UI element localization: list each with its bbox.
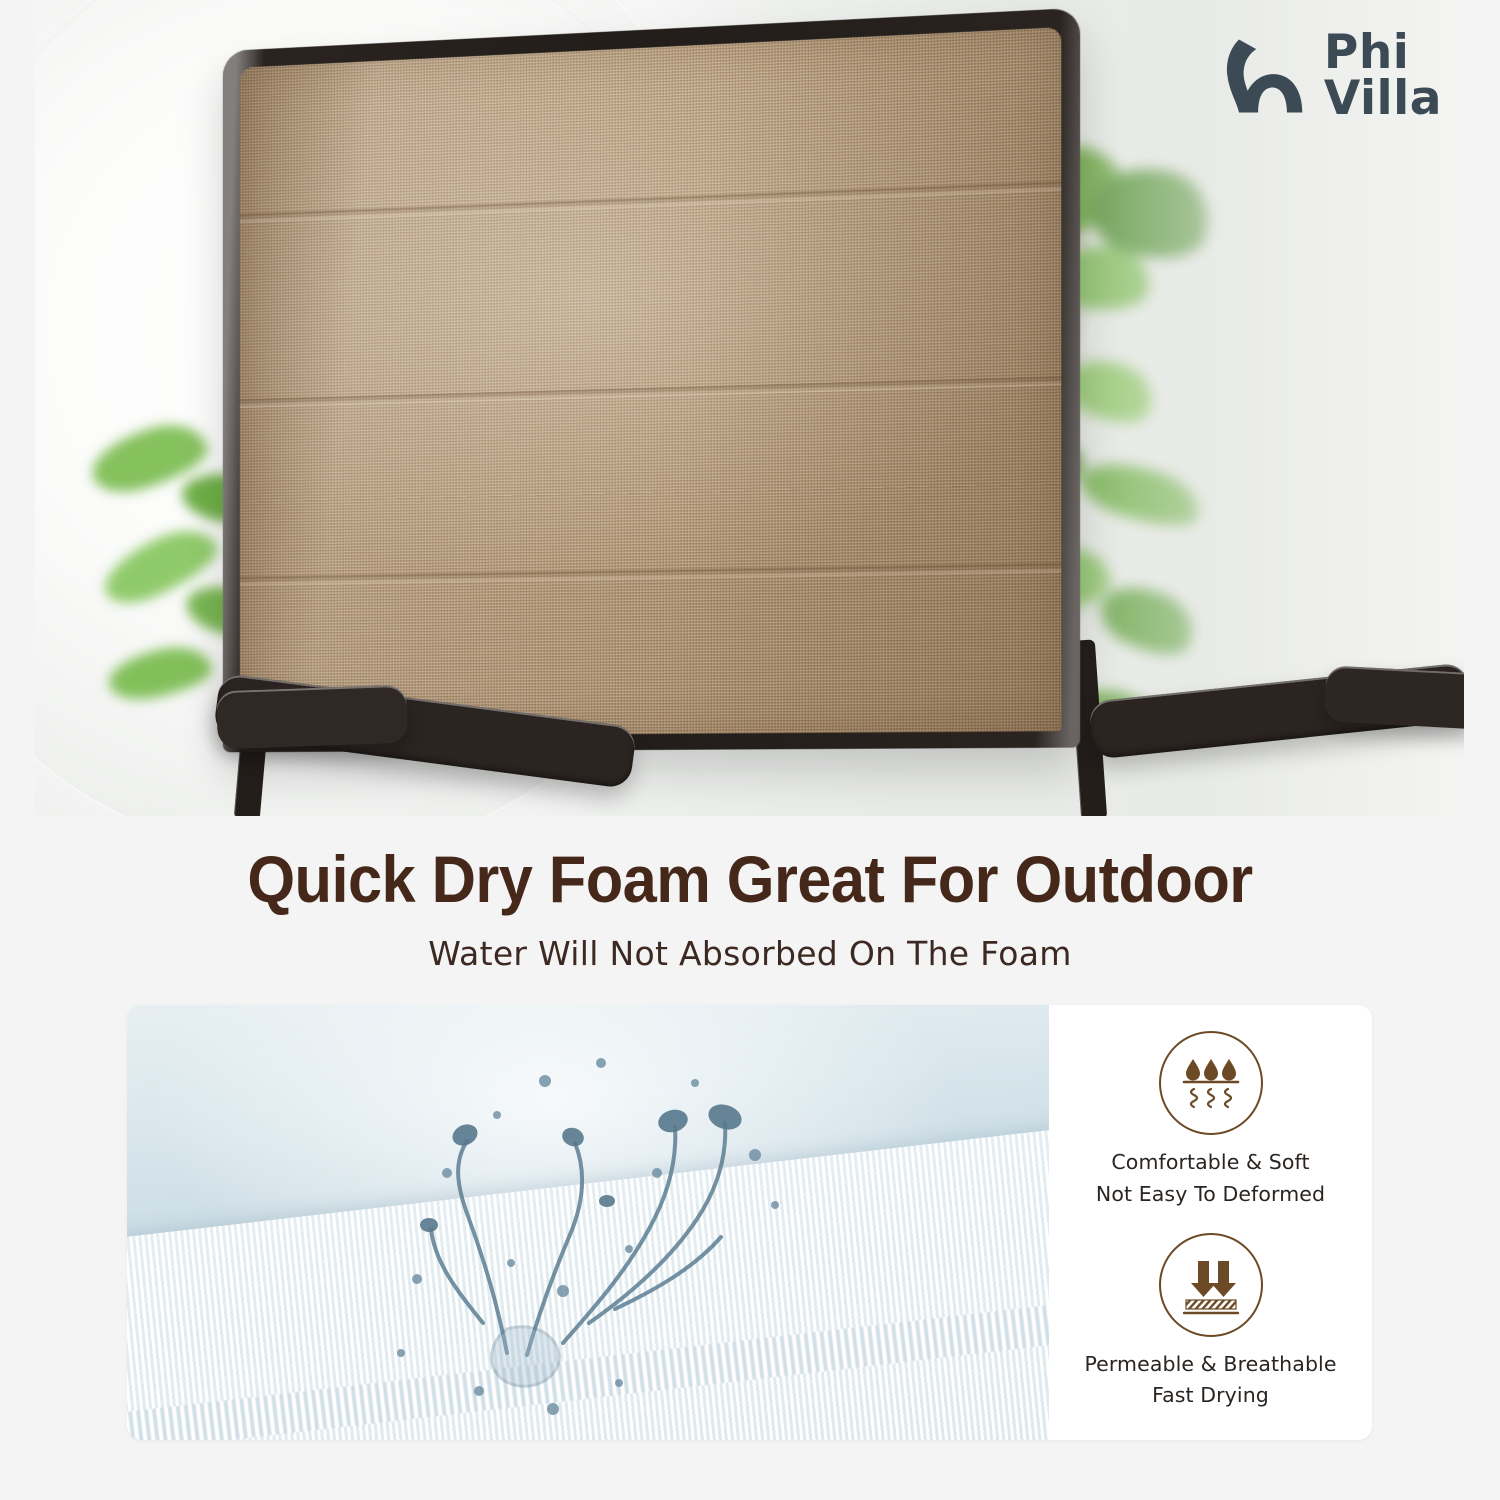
chair-backrest (223, 8, 1080, 753)
feature-card: Comfortable & Soft Not Easy To Deformed (1049, 1005, 1372, 1440)
water-splash-photo (127, 1005, 1049, 1440)
brand-wordmark: Phi Villa (1324, 30, 1442, 122)
water-splash-icon (357, 1023, 827, 1423)
page-subtitle: Water Will Not Absorbed On The Foam (0, 912, 1500, 973)
page-title: Quick Dry Foam Great For Outdoor (53, 818, 1448, 912)
feature-item-breathable: Permeable & Breathable Fast Drying (1049, 1233, 1372, 1413)
headline-block: Quick Dry Foam Great For Outdoor Water W… (0, 818, 1500, 993)
feature-comfort-line-1: Comfortable & Soft (1111, 1147, 1309, 1179)
feature-breathable-line-1: Permeable & Breathable (1084, 1349, 1336, 1381)
phi-villa-hook-mark-icon (1214, 28, 1310, 124)
chair-armrest-right-pad (1324, 665, 1464, 730)
showcase-row: Comfortable & Soft Not Easy To Deformed (127, 1005, 1372, 1440)
patio-chair (155, 10, 1285, 816)
feature-comfort-line-2: Not Easy To Deformed (1096, 1179, 1325, 1211)
brand-name-line-2: Villa (1324, 76, 1442, 122)
brand-name-line-1: Phi (1324, 30, 1442, 76)
water-drops-evaporation-icon (1159, 1031, 1263, 1135)
sling-fabric (240, 27, 1061, 736)
feature-item-comfort: Comfortable & Soft Not Easy To Deformed (1049, 1031, 1372, 1211)
brand-logo: Phi Villa (1214, 28, 1442, 124)
downward-arrows-breathable-layer-icon (1159, 1233, 1263, 1337)
feature-breathable-line-2: Fast Drying (1152, 1380, 1269, 1412)
chair-armrest-left-pad (216, 685, 408, 750)
